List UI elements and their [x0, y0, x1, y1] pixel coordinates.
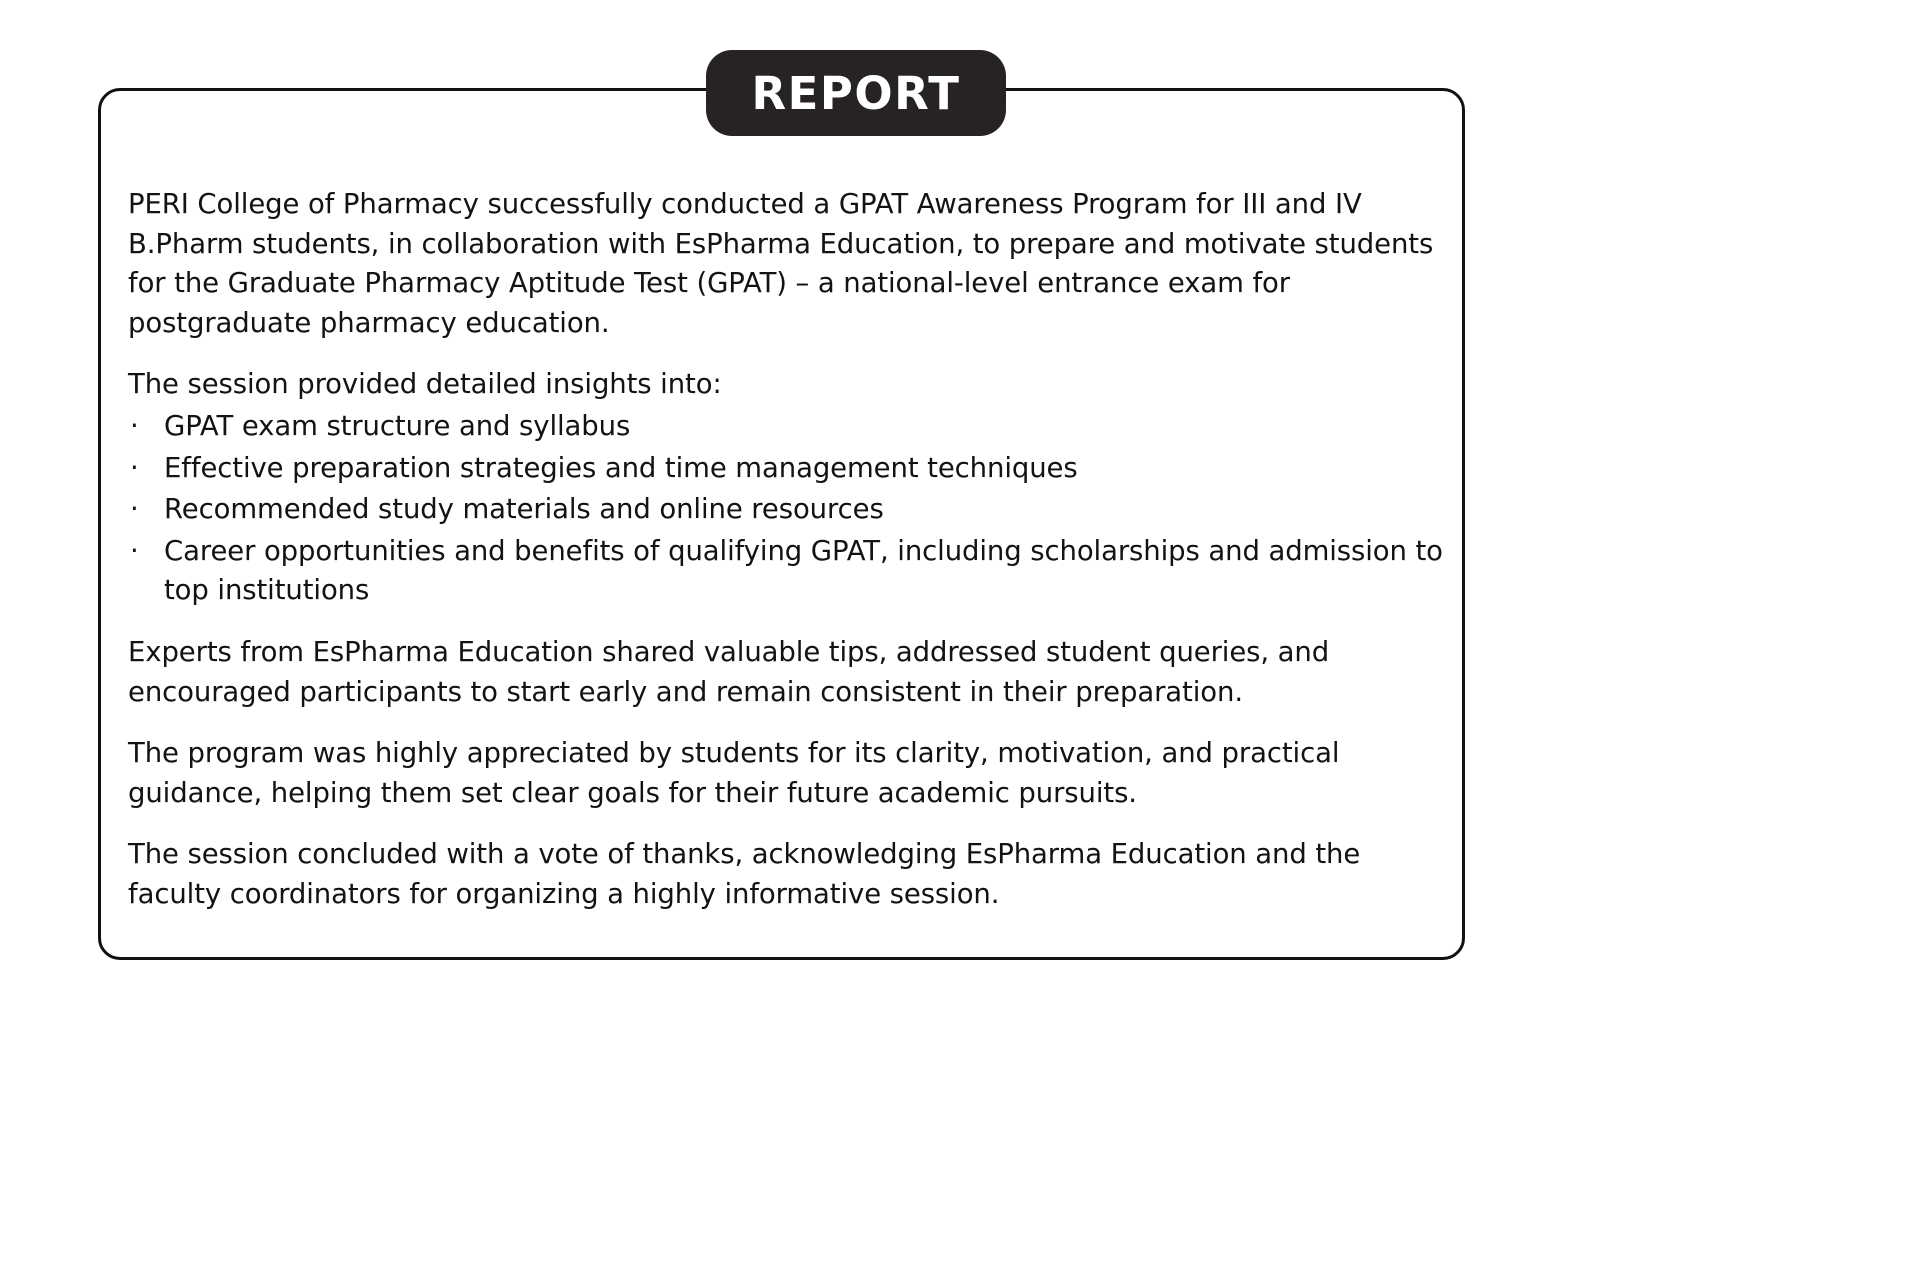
paragraph-lead-in: The session provided detailed insights i… — [128, 365, 1448, 405]
paragraph-appreciation: The program was highly appreciated by st… — [128, 734, 1448, 813]
list-item: · Career opportunities and benefits of q… — [128, 532, 1448, 611]
paragraph-intro: PERI College of Pharmacy successfully co… — [128, 185, 1448, 343]
list-item: · Effective preparation strategies and t… — [128, 449, 1448, 489]
list-item-label: GPAT exam structure and syllabus — [164, 407, 1448, 447]
page-root: REPORT PERI College of Pharmacy successf… — [0, 0, 1920, 1280]
report-title-badge: REPORT — [706, 50, 1006, 136]
list-item: · Recommended study materials and online… — [128, 490, 1448, 530]
list-item-label: Career opportunities and benefits of qua… — [164, 532, 1448, 611]
list-item-label: Effective preparation strategies and tim… — [164, 449, 1448, 489]
insights-bullet-list: · GPAT exam structure and syllabus · Eff… — [128, 407, 1448, 611]
bullet-dot-icon: · — [130, 490, 139, 530]
bullet-dot-icon: · — [130, 449, 139, 489]
bullet-dot-icon: · — [130, 532, 139, 572]
report-body: PERI College of Pharmacy successfully co… — [128, 185, 1448, 937]
list-item: · GPAT exam structure and syllabus — [128, 407, 1448, 447]
page-title: REPORT — [752, 71, 961, 116]
bullet-dot-icon: · — [130, 407, 139, 447]
paragraph-conclusion: The session concluded with a vote of tha… — [128, 835, 1448, 914]
list-item-label: Recommended study materials and online r… — [164, 490, 1448, 530]
paragraph-experts: Experts from EsPharma Education shared v… — [128, 633, 1448, 712]
